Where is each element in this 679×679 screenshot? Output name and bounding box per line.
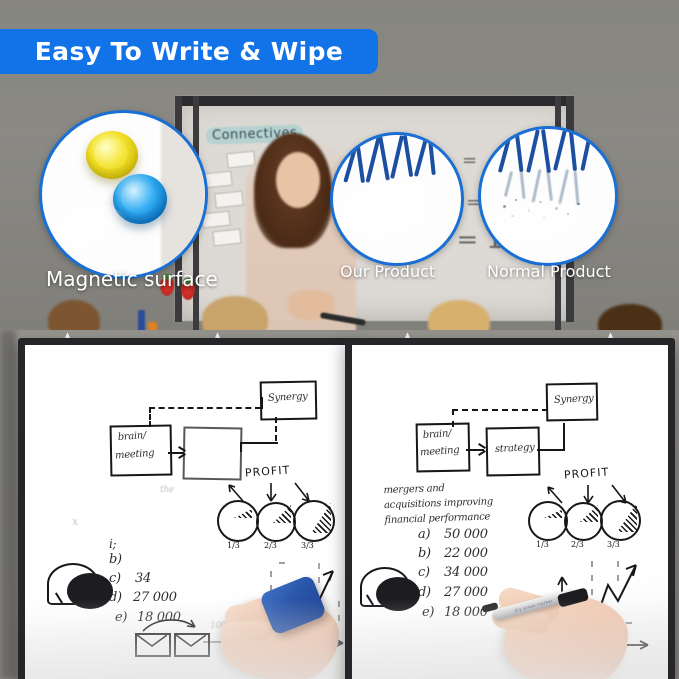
diagram-box-synergy-label: Synergy	[268, 391, 308, 404]
callout-circle-our-product	[330, 132, 464, 266]
list-value: 34	[135, 571, 151, 586]
ink-residue	[546, 169, 553, 201]
diagram-box-synergy: Synergy	[546, 383, 599, 422]
connector-dashed	[149, 407, 261, 409]
pie-chart-2-label: 2/3	[571, 540, 584, 549]
ink-residue	[558, 169, 569, 205]
list-item: i;	[109, 537, 116, 551]
diagram-box-strategy-label: strategy	[495, 442, 535, 455]
pie-chart-2-label: 2/3	[264, 541, 277, 550]
surface-highlight	[52, 203, 132, 263]
pie-chart-1	[217, 500, 259, 542]
wiped-clean-area	[337, 179, 457, 259]
list-item: a)	[418, 527, 430, 542]
callout-circle-normal-product	[478, 126, 618, 266]
ink-residue	[574, 171, 580, 205]
callout-label-magnetic-surface: Magnetic surface	[46, 267, 218, 291]
board-gloss	[352, 599, 668, 679]
pie-chart-1-label: 1/3	[536, 540, 549, 549]
headline-text: Easy To Write & Wipe	[11, 37, 344, 66]
list-value: 50 000	[444, 527, 488, 542]
callout-circle-magnetic-surface	[39, 110, 208, 279]
list-item: b)	[109, 552, 122, 567]
connector-dashed	[275, 417, 277, 441]
connector-dashed	[261, 397, 263, 409]
list-value: 34 000	[444, 565, 488, 580]
list-item: b)	[418, 546, 431, 561]
diagram-box-strategy-erased	[183, 426, 243, 480]
board-gloss	[25, 599, 351, 679]
word-card	[212, 229, 241, 247]
pie-chart-3	[293, 500, 335, 542]
ink-residue	[519, 169, 525, 199]
diagram-box-synergy-label: Synergy	[554, 393, 594, 406]
teacher-face	[276, 152, 320, 208]
pie-chart-1	[528, 501, 568, 541]
list-item: c)	[418, 565, 430, 580]
headline-banner: Easy To Write & Wipe	[0, 29, 378, 74]
callout-1-background	[161, 113, 205, 276]
callout-label-normal-product: Normal Product	[487, 262, 611, 281]
connector-dashed	[452, 409, 548, 411]
handwritten-note: mergers and acquisitions improving finan…	[383, 479, 504, 528]
diagram-box-synergy: Synergy	[260, 381, 318, 421]
magnet-yellow	[86, 131, 138, 179]
pie-chart-3-label: 3/3	[301, 541, 314, 550]
diagram-box-brain: brain/ meeting	[416, 423, 471, 473]
bottom-comparison-section: brain/ meeting Synergy the x PROFIT	[0, 330, 679, 679]
diagram-box-brain: brain/ meeting	[110, 424, 173, 476]
student-head	[48, 300, 100, 333]
pie-chart-2	[564, 502, 603, 541]
connector-dashed	[149, 407, 151, 427]
top-photo-section: Connectives — — x 5 = 15 = = Easy To Wri…	[0, 0, 679, 333]
pie-chart-2	[256, 502, 296, 542]
erased-scribble: the	[160, 485, 174, 495]
whiteboard-right: brain/ meeting strategy Synergy mergers …	[345, 338, 675, 679]
ink-residue	[531, 169, 541, 203]
whiteboard-left: brain/ meeting Synergy the x PROFIT	[18, 338, 358, 679]
background-whiteboard-top-frame	[175, 96, 573, 106]
word-card	[214, 191, 243, 209]
callout-label-our-product: Our Product	[340, 262, 435, 281]
diagram-box-brain-label: brain/	[117, 430, 146, 443]
diagram-box-strategy: strategy	[486, 427, 541, 477]
pie-chart-3	[600, 500, 641, 541]
pie-chart-1-label: 1/3	[227, 541, 240, 550]
list-value: 22 000	[444, 546, 488, 561]
erased-scribble: x	[72, 515, 78, 528]
list-value: 27 000	[444, 585, 488, 600]
product-feature-image: Connectives — — x 5 = 15 = = Easy To Wri…	[0, 0, 679, 679]
marker-blue	[138, 310, 145, 332]
ink-residue	[504, 171, 513, 197]
connector-dashed	[452, 409, 454, 427]
word-card	[203, 171, 232, 189]
pie-chart-3-label: 3/3	[607, 540, 620, 549]
